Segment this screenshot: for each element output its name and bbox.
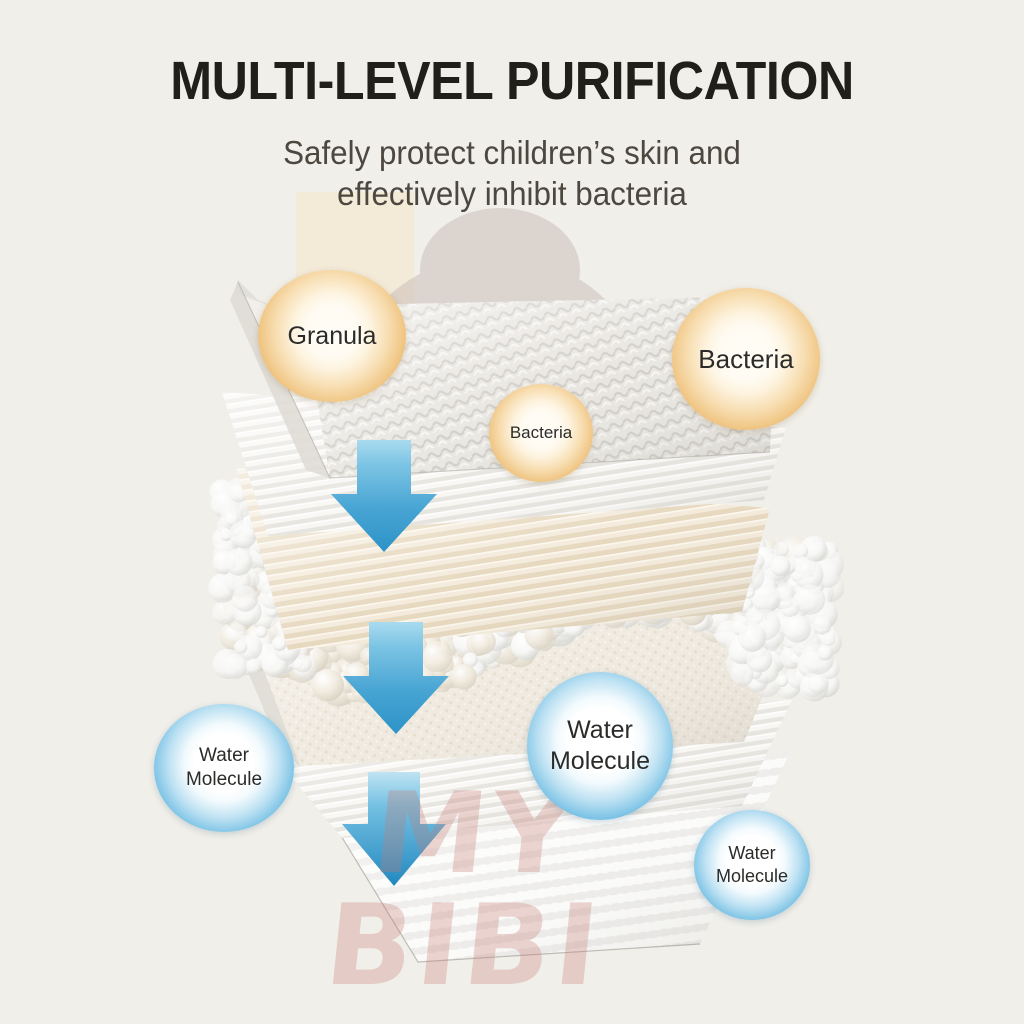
line-1: Water (567, 716, 633, 744)
callout-bacteria-small-label: Bacteria (504, 423, 578, 443)
callout-granula-label: Granula (282, 322, 383, 350)
callout-bacteria-large[interactable]: Bacteria (672, 288, 820, 430)
callout-granula[interactable]: Granula (258, 270, 406, 402)
line-2: Molecule (186, 769, 262, 790)
line-1: Water (728, 843, 775, 863)
subtitle-line-1: Safely protect children’s skin and (283, 134, 741, 171)
brand-watermark-text: MY BIBI (219, 778, 722, 1002)
infographic-canvas: MULTI-LEVEL PURIFICATION Safely protect … (0, 0, 1024, 1024)
callout-bacteria-small[interactable]: Bacteria (489, 384, 593, 482)
header: MULTI-LEVEL PURIFICATION Safely protect … (0, 0, 1024, 214)
callout-water-molecule-left[interactable]: Water Molecule (154, 704, 294, 832)
line-2: Molecule (550, 747, 650, 775)
callout-water-molecule-center[interactable]: Water Molecule (527, 672, 673, 820)
callout-water-molecule-left-label: Water Molecule (180, 744, 268, 792)
callout-water-molecule-center-label: Water Molecule (544, 715, 656, 777)
callout-bacteria-large-label: Bacteria (692, 345, 799, 374)
page-subtitle: Safely protect children’s skin and effec… (26, 110, 999, 214)
line-2: Molecule (716, 866, 788, 886)
callout-water-molecule-right-label: Water Molecule (710, 842, 794, 888)
subtitle-line-2: effectively inhibit bacteria (337, 175, 687, 212)
page-title: MULTI-LEVEL PURIFICATION (36, 0, 988, 110)
callout-water-molecule-right[interactable]: Water Molecule (694, 810, 810, 920)
line-1: Water (199, 745, 249, 766)
